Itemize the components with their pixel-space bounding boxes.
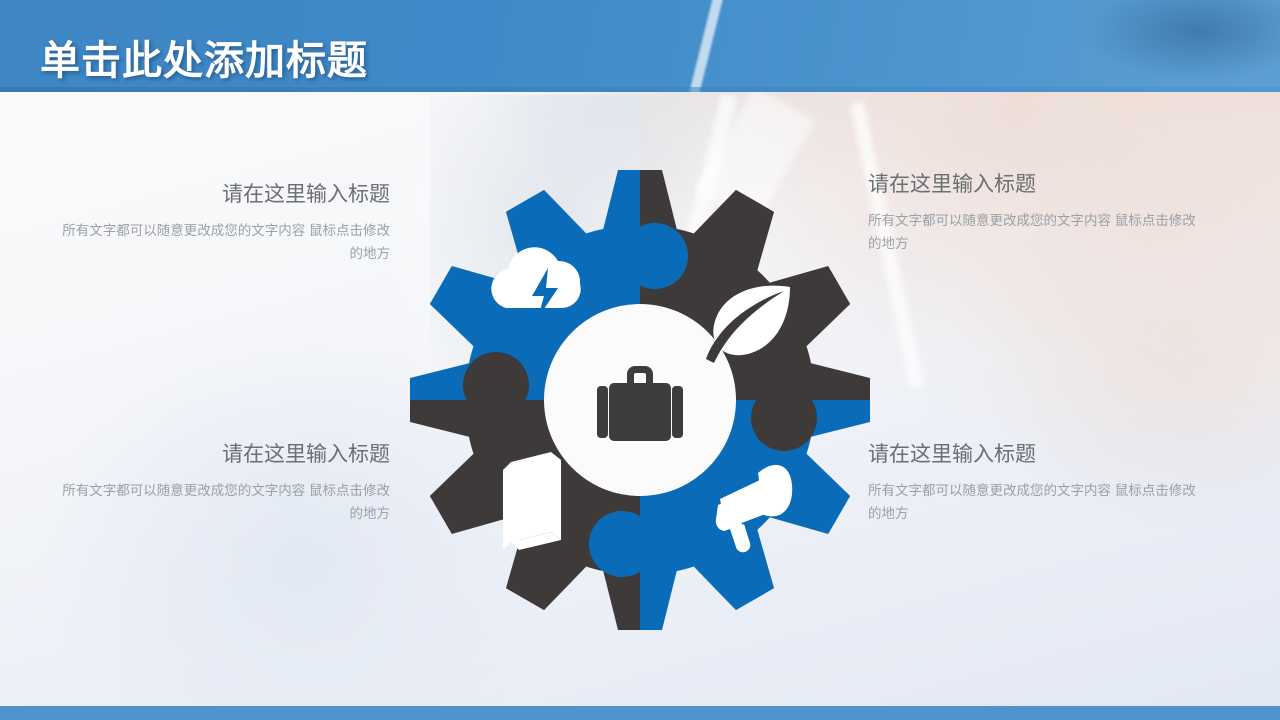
title-bar-underline: [0, 87, 1280, 92]
page-title[interactable]: 单击此处添加标题: [40, 28, 368, 86]
puzzle-knob-top: [622, 223, 688, 289]
gear-diagram: [400, 160, 880, 640]
title-bar-photo-overlay: [560, 0, 1280, 92]
block-body[interactable]: 所有文字都可以随意更改成您的文字内容 鼠标点击修改的地方: [60, 480, 390, 525]
block-title[interactable]: 请在这里输入标题: [868, 172, 1198, 198]
text-block-bottom-right[interactable]: 请在这里输入标题 所有文字都可以随意更改成您的文字内容 鼠标点击修改的地方: [868, 442, 1198, 525]
block-body[interactable]: 所有文字都可以随意更改成您的文字内容 鼠标点击修改的地方: [60, 220, 390, 265]
block-body[interactable]: 所有文字都可以随意更改成您的文字内容 鼠标点击修改的地方: [868, 480, 1198, 525]
block-title[interactable]: 请在这里输入标题: [60, 182, 390, 208]
text-block-bottom-left[interactable]: 请在这里输入标题 所有文字都可以随意更改成您的文字内容 鼠标点击修改的地方: [60, 442, 390, 525]
block-title[interactable]: 请在这里输入标题: [60, 442, 390, 468]
puzzle-knob-right: [751, 385, 817, 451]
footer-bar: [0, 706, 1280, 720]
puzzle-knob-bottom: [589, 511, 655, 577]
puzzle-knob-left: [463, 352, 529, 418]
slide: 单击此处添加标题: [0, 0, 1280, 720]
block-title[interactable]: 请在这里输入标题: [868, 442, 1198, 468]
book-icon: [503, 452, 561, 550]
block-body[interactable]: 所有文字都可以随意更改成您的文字内容 鼠标点击修改的地方: [868, 210, 1198, 255]
text-block-top-right[interactable]: 请在这里输入标题 所有文字都可以随意更改成您的文字内容 鼠标点击修改的地方: [868, 172, 1198, 255]
text-block-top-left[interactable]: 请在这里输入标题 所有文字都可以随意更改成您的文字内容 鼠标点击修改的地方: [60, 182, 390, 265]
